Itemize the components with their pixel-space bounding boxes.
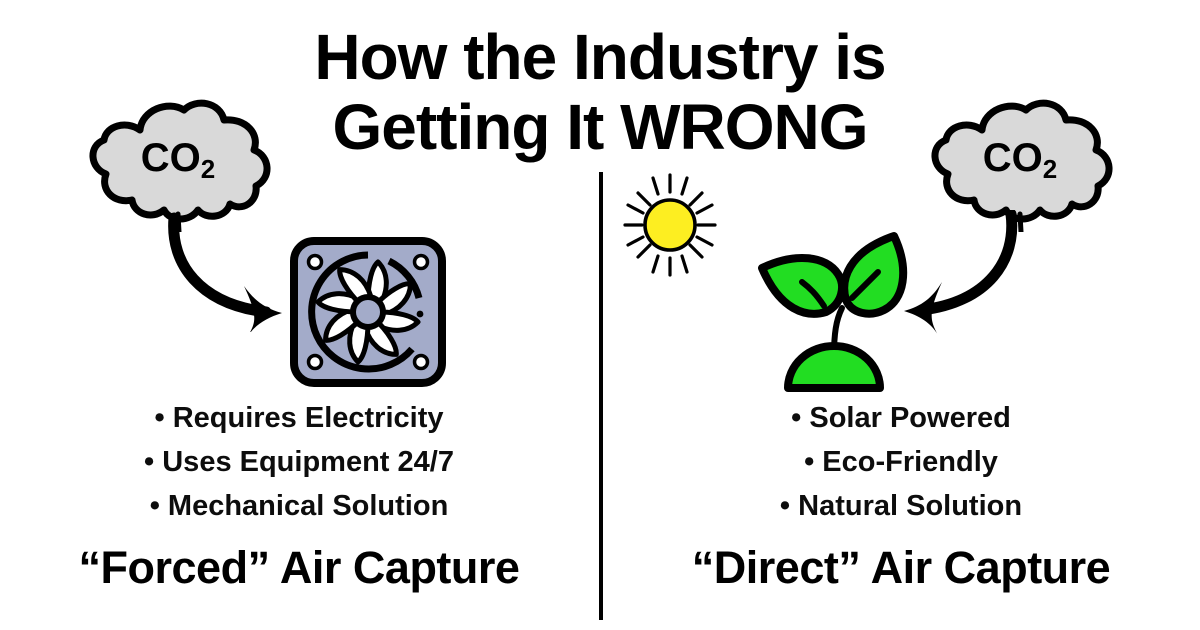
list-item: • Natural Solution (602, 484, 1200, 528)
fan-icon (288, 236, 448, 388)
left-bullet-list: • Requires Electricity • Uses Equipment … (0, 396, 598, 528)
right-bullet-list: • Solar Powered • Eco-Friendly • Natural… (602, 396, 1200, 528)
left-panel-caption: “Forced” Air Capture (0, 540, 598, 596)
title-line-1: How the Industry is (0, 22, 1200, 92)
plant-icon (742, 228, 922, 396)
sun-icon (608, 172, 732, 278)
left-co2-cloud: CO2 (78, 92, 278, 232)
right-panel-caption: “Direct” Air Capture (602, 540, 1200, 596)
list-item: • Requires Electricity (0, 396, 598, 440)
list-item: • Mechanical Solution (0, 484, 598, 528)
infographic-canvas: How the Industry is Getting It WRONG CO2… (0, 0, 1200, 630)
list-item: • Eco-Friendly (602, 440, 1200, 484)
list-item: • Uses Equipment 24/7 (0, 440, 598, 484)
list-item: • Solar Powered (602, 396, 1200, 440)
